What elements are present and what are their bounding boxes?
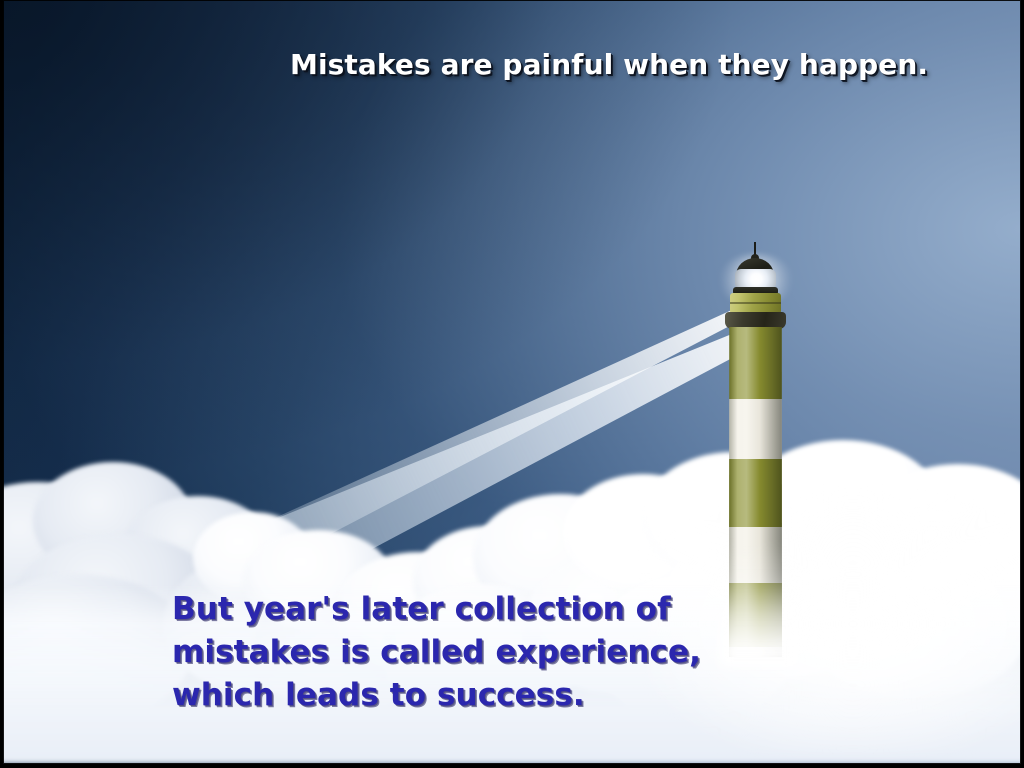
- subtext-block: But year's later collection of mistakes …: [172, 588, 701, 717]
- lighthouse-icon: [709, 242, 829, 662]
- subtext-line-1: But year's later collection of: [172, 588, 701, 631]
- lighthouse-base-haze: [719, 542, 799, 667]
- lantern-gallery-rail: [730, 302, 781, 304]
- lantern-balcony: [725, 312, 786, 329]
- headline-text: Mistakes are painful when they happen.: [290, 48, 928, 81]
- slide-canvas: Mistakes are painful when they happen. B…: [0, 0, 1024, 768]
- subtext-line-3: which leads to success.: [172, 674, 701, 717]
- subtext-line-2: mistakes is called experience,: [172, 631, 701, 674]
